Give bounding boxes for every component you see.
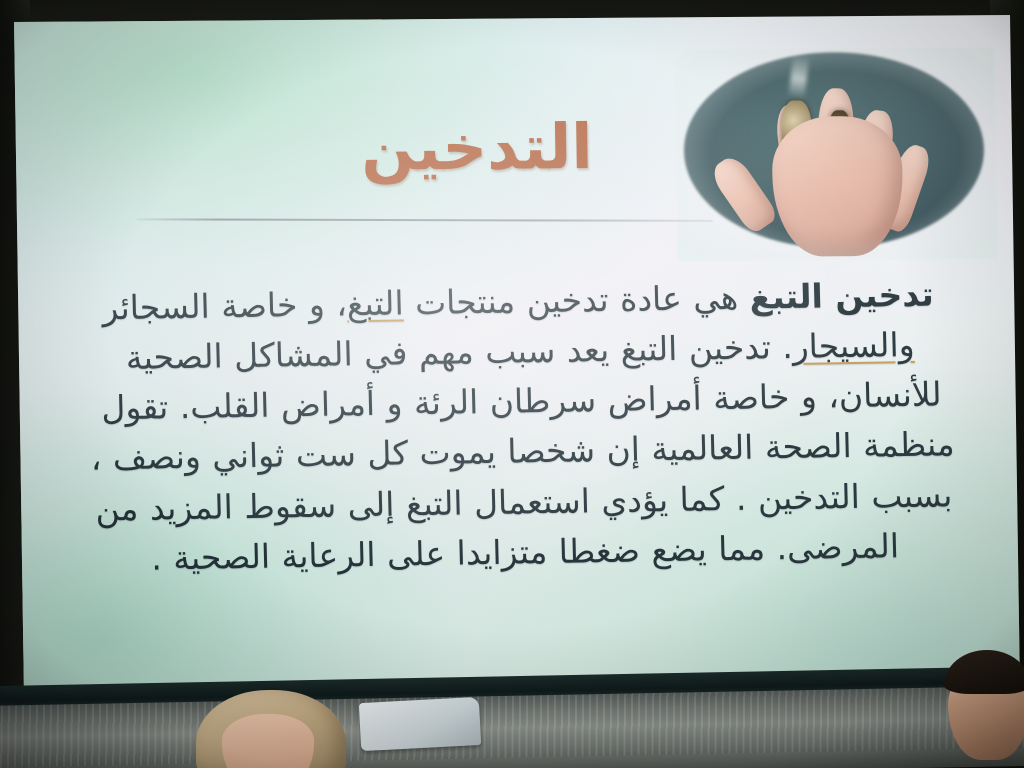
body-text-run: ، و خاصة السجائر (102, 284, 348, 327)
body-lead-term: تدخين التبغ (749, 275, 934, 317)
slide-body-text: تدخين التبغ هي عادة تدخين منتجات التبغ، … (82, 269, 961, 584)
hand-cigarette-image (674, 47, 997, 261)
lecture-room-photo: التدخين تدخين التبغ هي عادة تدخين منتجات… (0, 0, 1024, 768)
paper-sheet (359, 697, 481, 751)
face (222, 714, 314, 768)
projected-slide: التدخين تدخين التبغ هي عادة تدخين منتجات… (14, 15, 1020, 690)
slide-title: التدخين (271, 115, 682, 180)
body-text-run: هي عادة تدخين منتجات (403, 278, 750, 323)
paragraph-bullet-icon (935, 280, 936, 311)
projection-screen: التدخين تدخين التبغ هي عادة تدخين منتجات… (14, 15, 1020, 690)
person-at-right-edge (944, 664, 1024, 768)
title-divider-rule (137, 218, 713, 222)
body-underlined-term: التبغ (346, 283, 404, 323)
slide-content: التدخين تدخين التبغ هي عادة تدخين منتجات… (14, 15, 1020, 690)
image-edge-fade (674, 47, 997, 261)
body-underlined-term: والسيجار (792, 325, 915, 366)
person-in-foreground (196, 690, 346, 768)
